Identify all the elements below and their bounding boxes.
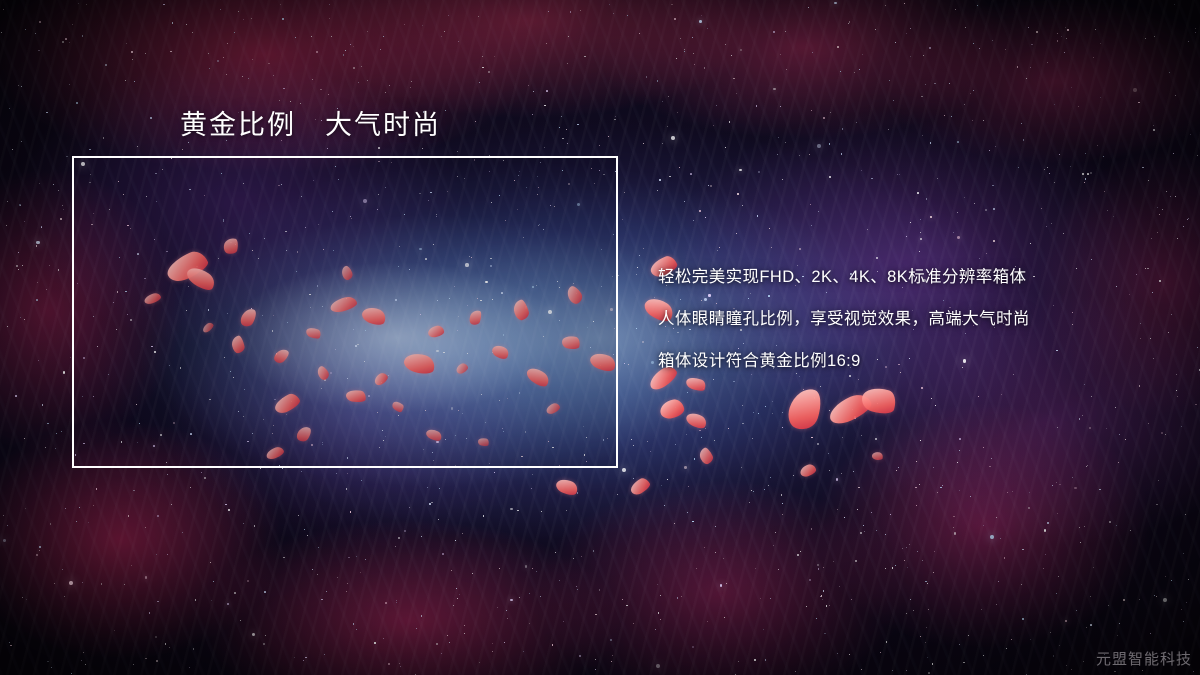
- slide-canvas: 黄金比例 大气时尚 轻松完美实现FHD、2K、4K、8K标准分辨率箱体 人体眼睛…: [0, 0, 1200, 675]
- petal: [554, 476, 580, 498]
- petal: [201, 321, 215, 334]
- petal: [697, 446, 715, 466]
- petal: [222, 237, 239, 256]
- body-text-block: 轻松完美实现FHD、2K、4K、8K标准分辨率箱体 人体眼睛瞳孔比例，享受视觉效…: [658, 256, 1178, 382]
- petal: [871, 451, 883, 461]
- petal: [825, 390, 874, 428]
- body-line-1: 轻松完美实现FHD、2K、4K、8K标准分辨率箱体: [658, 256, 1178, 298]
- petal: [512, 298, 531, 321]
- petal: [784, 384, 826, 433]
- petal: [427, 325, 445, 339]
- photo-nebula-core: [74, 158, 616, 466]
- petal: [477, 437, 490, 447]
- petal: [272, 346, 291, 365]
- body-line-3: 箱体设计符合黄金比例16:9: [658, 340, 1178, 382]
- body-line-2: 人体眼睛瞳孔比例，享受视觉效果，高端大气时尚: [658, 298, 1178, 340]
- petal: [391, 399, 406, 414]
- photo-frame: [72, 156, 618, 468]
- petal: [230, 335, 245, 354]
- photo-nebula-wisp: [74, 158, 616, 466]
- petal: [265, 445, 285, 461]
- petal: [588, 350, 616, 375]
- petal: [564, 284, 585, 306]
- petal: [345, 389, 366, 404]
- petal: [561, 334, 581, 350]
- petal: [360, 304, 388, 328]
- photo-nebula-base: [74, 158, 616, 466]
- petal: [455, 362, 470, 376]
- petal: [799, 463, 818, 478]
- photo-dim-overlay: [74, 158, 616, 466]
- petal: [305, 326, 323, 341]
- photo-nebula-purple: [74, 158, 616, 466]
- petal: [329, 295, 358, 314]
- petal: [295, 424, 314, 444]
- petal: [628, 476, 652, 497]
- petal: [490, 343, 511, 362]
- slide-title: 黄金比例 大气时尚: [180, 103, 441, 142]
- petal: [143, 292, 162, 306]
- photo-starfield: [74, 158, 616, 466]
- photo-image: [74, 158, 616, 466]
- photo-nebula-red: [74, 158, 616, 466]
- petal: [315, 364, 331, 381]
- petal: [425, 427, 444, 443]
- watermark: 元盟智能科技: [1096, 648, 1192, 669]
- petal: [238, 306, 258, 329]
- petal: [272, 391, 302, 416]
- petal: [859, 384, 899, 417]
- petal: [524, 364, 552, 389]
- petal: [658, 398, 685, 421]
- petal: [402, 350, 437, 377]
- petal: [340, 265, 354, 282]
- petal: [545, 402, 561, 416]
- petal: [468, 309, 483, 327]
- petal: [684, 410, 709, 431]
- petal: [372, 371, 389, 387]
